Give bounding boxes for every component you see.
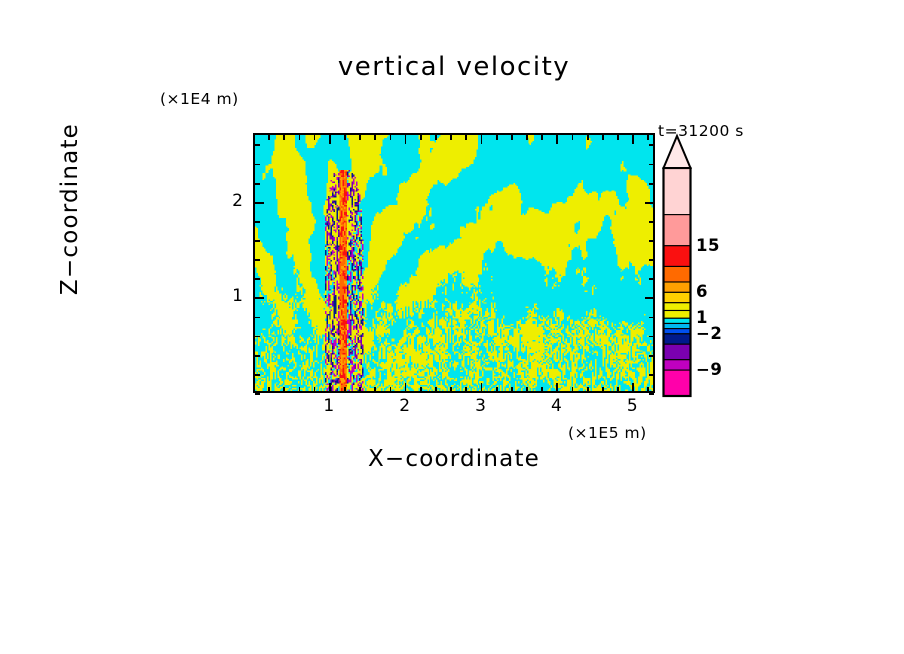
tick-mark bbox=[253, 387, 255, 392]
tick-mark bbox=[359, 387, 361, 392]
tick-mark bbox=[649, 355, 654, 357]
tick-mark bbox=[496, 135, 498, 140]
tick-mark bbox=[390, 135, 392, 140]
tick-mark bbox=[602, 387, 604, 392]
colorbar-arrow-tip bbox=[664, 136, 691, 168]
colorbar-tick-label: −2 bbox=[696, 324, 722, 343]
tick-mark bbox=[649, 240, 654, 242]
colorbar-band bbox=[664, 360, 691, 370]
y-axis-unit-label: (×1E4 m) bbox=[160, 90, 239, 108]
tick-mark bbox=[390, 387, 392, 392]
tick-mark bbox=[649, 164, 654, 166]
tick-mark bbox=[255, 393, 260, 395]
colorbar-bands bbox=[662, 168, 692, 396]
tick-mark bbox=[255, 355, 260, 357]
tick-mark bbox=[344, 387, 346, 392]
tick-mark bbox=[255, 374, 260, 376]
tick-mark bbox=[268, 135, 270, 140]
plot-area[interactable] bbox=[253, 133, 655, 393]
tick-mark bbox=[649, 317, 654, 319]
tick-mark bbox=[255, 259, 260, 261]
tick-mark bbox=[299, 135, 301, 140]
tick-mark bbox=[511, 387, 513, 392]
tick-mark bbox=[268, 387, 270, 392]
colorbar-band bbox=[664, 334, 691, 344]
tick-mark bbox=[374, 387, 376, 392]
tick-mark bbox=[496, 387, 498, 392]
colorbar-band bbox=[664, 311, 691, 319]
tick-mark bbox=[587, 135, 589, 140]
tick-mark bbox=[255, 278, 260, 280]
colorbar-tick-label: 15 bbox=[696, 236, 720, 255]
tick-mark bbox=[405, 135, 407, 144]
tick-mark bbox=[556, 383, 558, 392]
colorbar-band bbox=[664, 323, 691, 328]
colorbar-band bbox=[664, 266, 691, 282]
colorbar-band bbox=[664, 282, 691, 292]
x-axis-unit-label: (×1E5 m) bbox=[568, 424, 647, 442]
tick-mark bbox=[649, 183, 654, 185]
tick-mark bbox=[649, 259, 654, 261]
tick-mark bbox=[465, 387, 467, 392]
tick-mark bbox=[450, 135, 452, 140]
tick-mark bbox=[465, 135, 467, 140]
colorbar-band bbox=[664, 292, 691, 302]
tick-mark bbox=[299, 387, 301, 392]
tick-mark bbox=[541, 135, 543, 140]
tick-mark bbox=[526, 387, 528, 392]
x-tick-label: 4 bbox=[541, 396, 571, 416]
tick-mark bbox=[314, 135, 316, 140]
tick-mark bbox=[632, 383, 634, 392]
colorbar-band bbox=[664, 329, 691, 334]
colorbar-band bbox=[664, 168, 691, 215]
tick-mark bbox=[420, 387, 422, 392]
tick-mark bbox=[602, 135, 604, 140]
colorbar-tick-label: −9 bbox=[696, 360, 722, 379]
tick-mark bbox=[645, 297, 654, 299]
colorbar-band bbox=[664, 344, 691, 360]
tick-mark bbox=[359, 135, 361, 140]
colorbar-band bbox=[664, 370, 691, 396]
tick-mark bbox=[587, 387, 589, 392]
tick-mark bbox=[435, 387, 437, 392]
tick-mark bbox=[314, 387, 316, 392]
tick-mark bbox=[435, 135, 437, 140]
tick-mark bbox=[283, 387, 285, 392]
tick-mark bbox=[649, 221, 654, 223]
tick-mark bbox=[405, 383, 407, 392]
tick-mark bbox=[649, 393, 654, 395]
tick-mark bbox=[649, 144, 654, 146]
tick-mark bbox=[481, 135, 483, 144]
page-title: vertical velocity bbox=[253, 52, 655, 82]
x-tick-label: 2 bbox=[390, 396, 420, 416]
tick-mark bbox=[632, 135, 634, 144]
colorbar[interactable] bbox=[662, 168, 692, 396]
tick-mark bbox=[255, 183, 260, 185]
tick-mark bbox=[255, 144, 260, 146]
tick-mark bbox=[374, 135, 376, 140]
tick-mark bbox=[645, 202, 654, 204]
tick-mark bbox=[255, 336, 260, 338]
tick-mark bbox=[649, 336, 654, 338]
tick-mark bbox=[420, 135, 422, 140]
figure-canvas: vertical velocity (×1E4 m) t=31200 s 123… bbox=[0, 0, 904, 654]
vertical-velocity-field bbox=[255, 135, 653, 391]
tick-mark bbox=[556, 135, 558, 144]
x-tick-label: 5 bbox=[617, 396, 647, 416]
tick-mark bbox=[255, 221, 260, 223]
colorbar-band bbox=[664, 246, 691, 267]
colorbar-band bbox=[664, 303, 691, 311]
tick-mark bbox=[450, 387, 452, 392]
y-tick-label: 2 bbox=[217, 191, 243, 211]
tick-mark bbox=[511, 135, 513, 140]
tick-mark bbox=[255, 164, 260, 166]
tick-mark bbox=[329, 383, 331, 392]
tick-mark bbox=[649, 374, 654, 376]
tick-mark bbox=[526, 135, 528, 140]
tick-mark bbox=[617, 387, 619, 392]
timestamp-annotation: t=31200 s bbox=[658, 122, 744, 140]
x-tick-label: 1 bbox=[314, 396, 344, 416]
tick-mark bbox=[481, 383, 483, 392]
y-axis-title: Z−coordinate bbox=[57, 79, 83, 339]
tick-mark bbox=[255, 202, 264, 204]
tick-mark bbox=[255, 317, 260, 319]
tick-mark bbox=[329, 135, 331, 144]
tick-mark bbox=[647, 135, 649, 140]
tick-mark bbox=[541, 387, 543, 392]
tick-mark bbox=[253, 135, 255, 140]
tick-mark bbox=[255, 240, 260, 242]
x-axis-title: X−coordinate bbox=[253, 446, 655, 472]
tick-mark bbox=[572, 135, 574, 140]
tick-mark bbox=[283, 135, 285, 140]
colorbar-band bbox=[664, 318, 691, 323]
tick-mark bbox=[647, 387, 649, 392]
tick-mark bbox=[344, 135, 346, 140]
colorbar-band bbox=[664, 215, 691, 246]
tick-mark bbox=[649, 278, 654, 280]
colorbar-tick-label: 6 bbox=[696, 282, 708, 301]
tick-mark bbox=[572, 387, 574, 392]
tick-mark bbox=[255, 297, 264, 299]
x-tick-label: 3 bbox=[466, 396, 496, 416]
tick-mark bbox=[617, 135, 619, 140]
y-tick-label: 1 bbox=[217, 286, 243, 306]
